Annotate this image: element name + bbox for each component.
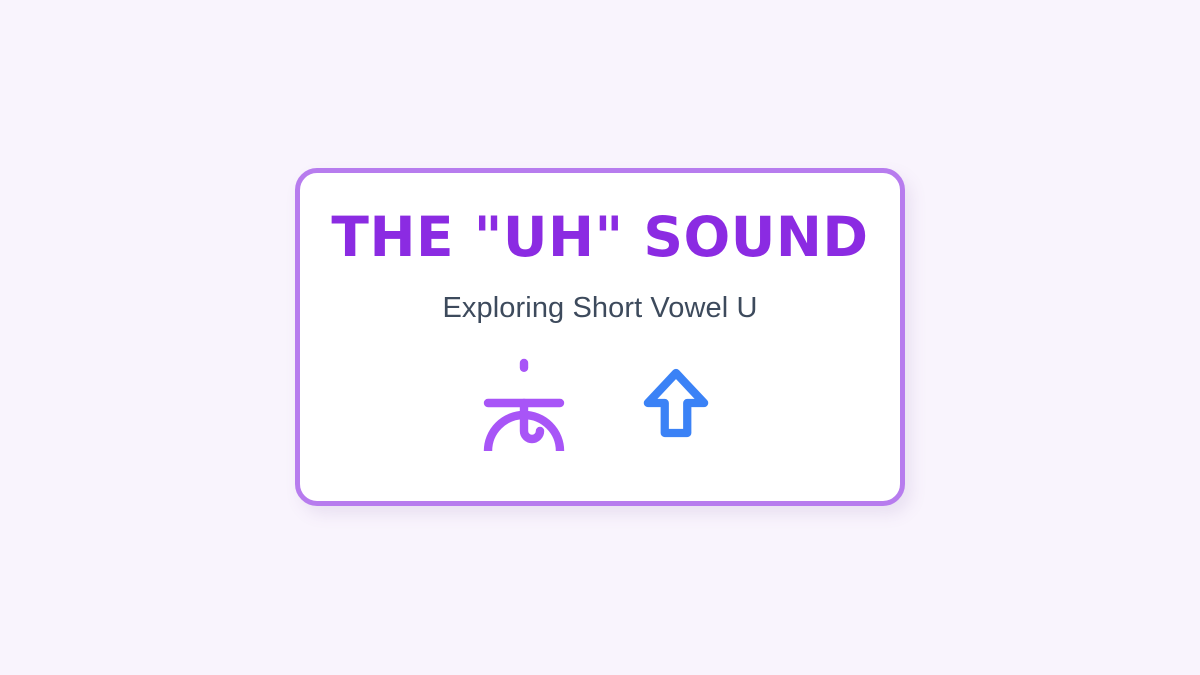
slide-canvas: THE "UH" SOUND Exploring Short Vowel U [0, 0, 1200, 675]
icon-row [474, 353, 726, 453]
page-subtitle: Exploring Short Vowel U [442, 292, 757, 325]
page-title: THE "UH" SOUND [331, 209, 868, 267]
umbrella-icon [474, 353, 574, 453]
title-card: THE "UH" SOUND Exploring Short Vowel U [295, 168, 905, 506]
arrow-big-up-icon [626, 353, 726, 453]
